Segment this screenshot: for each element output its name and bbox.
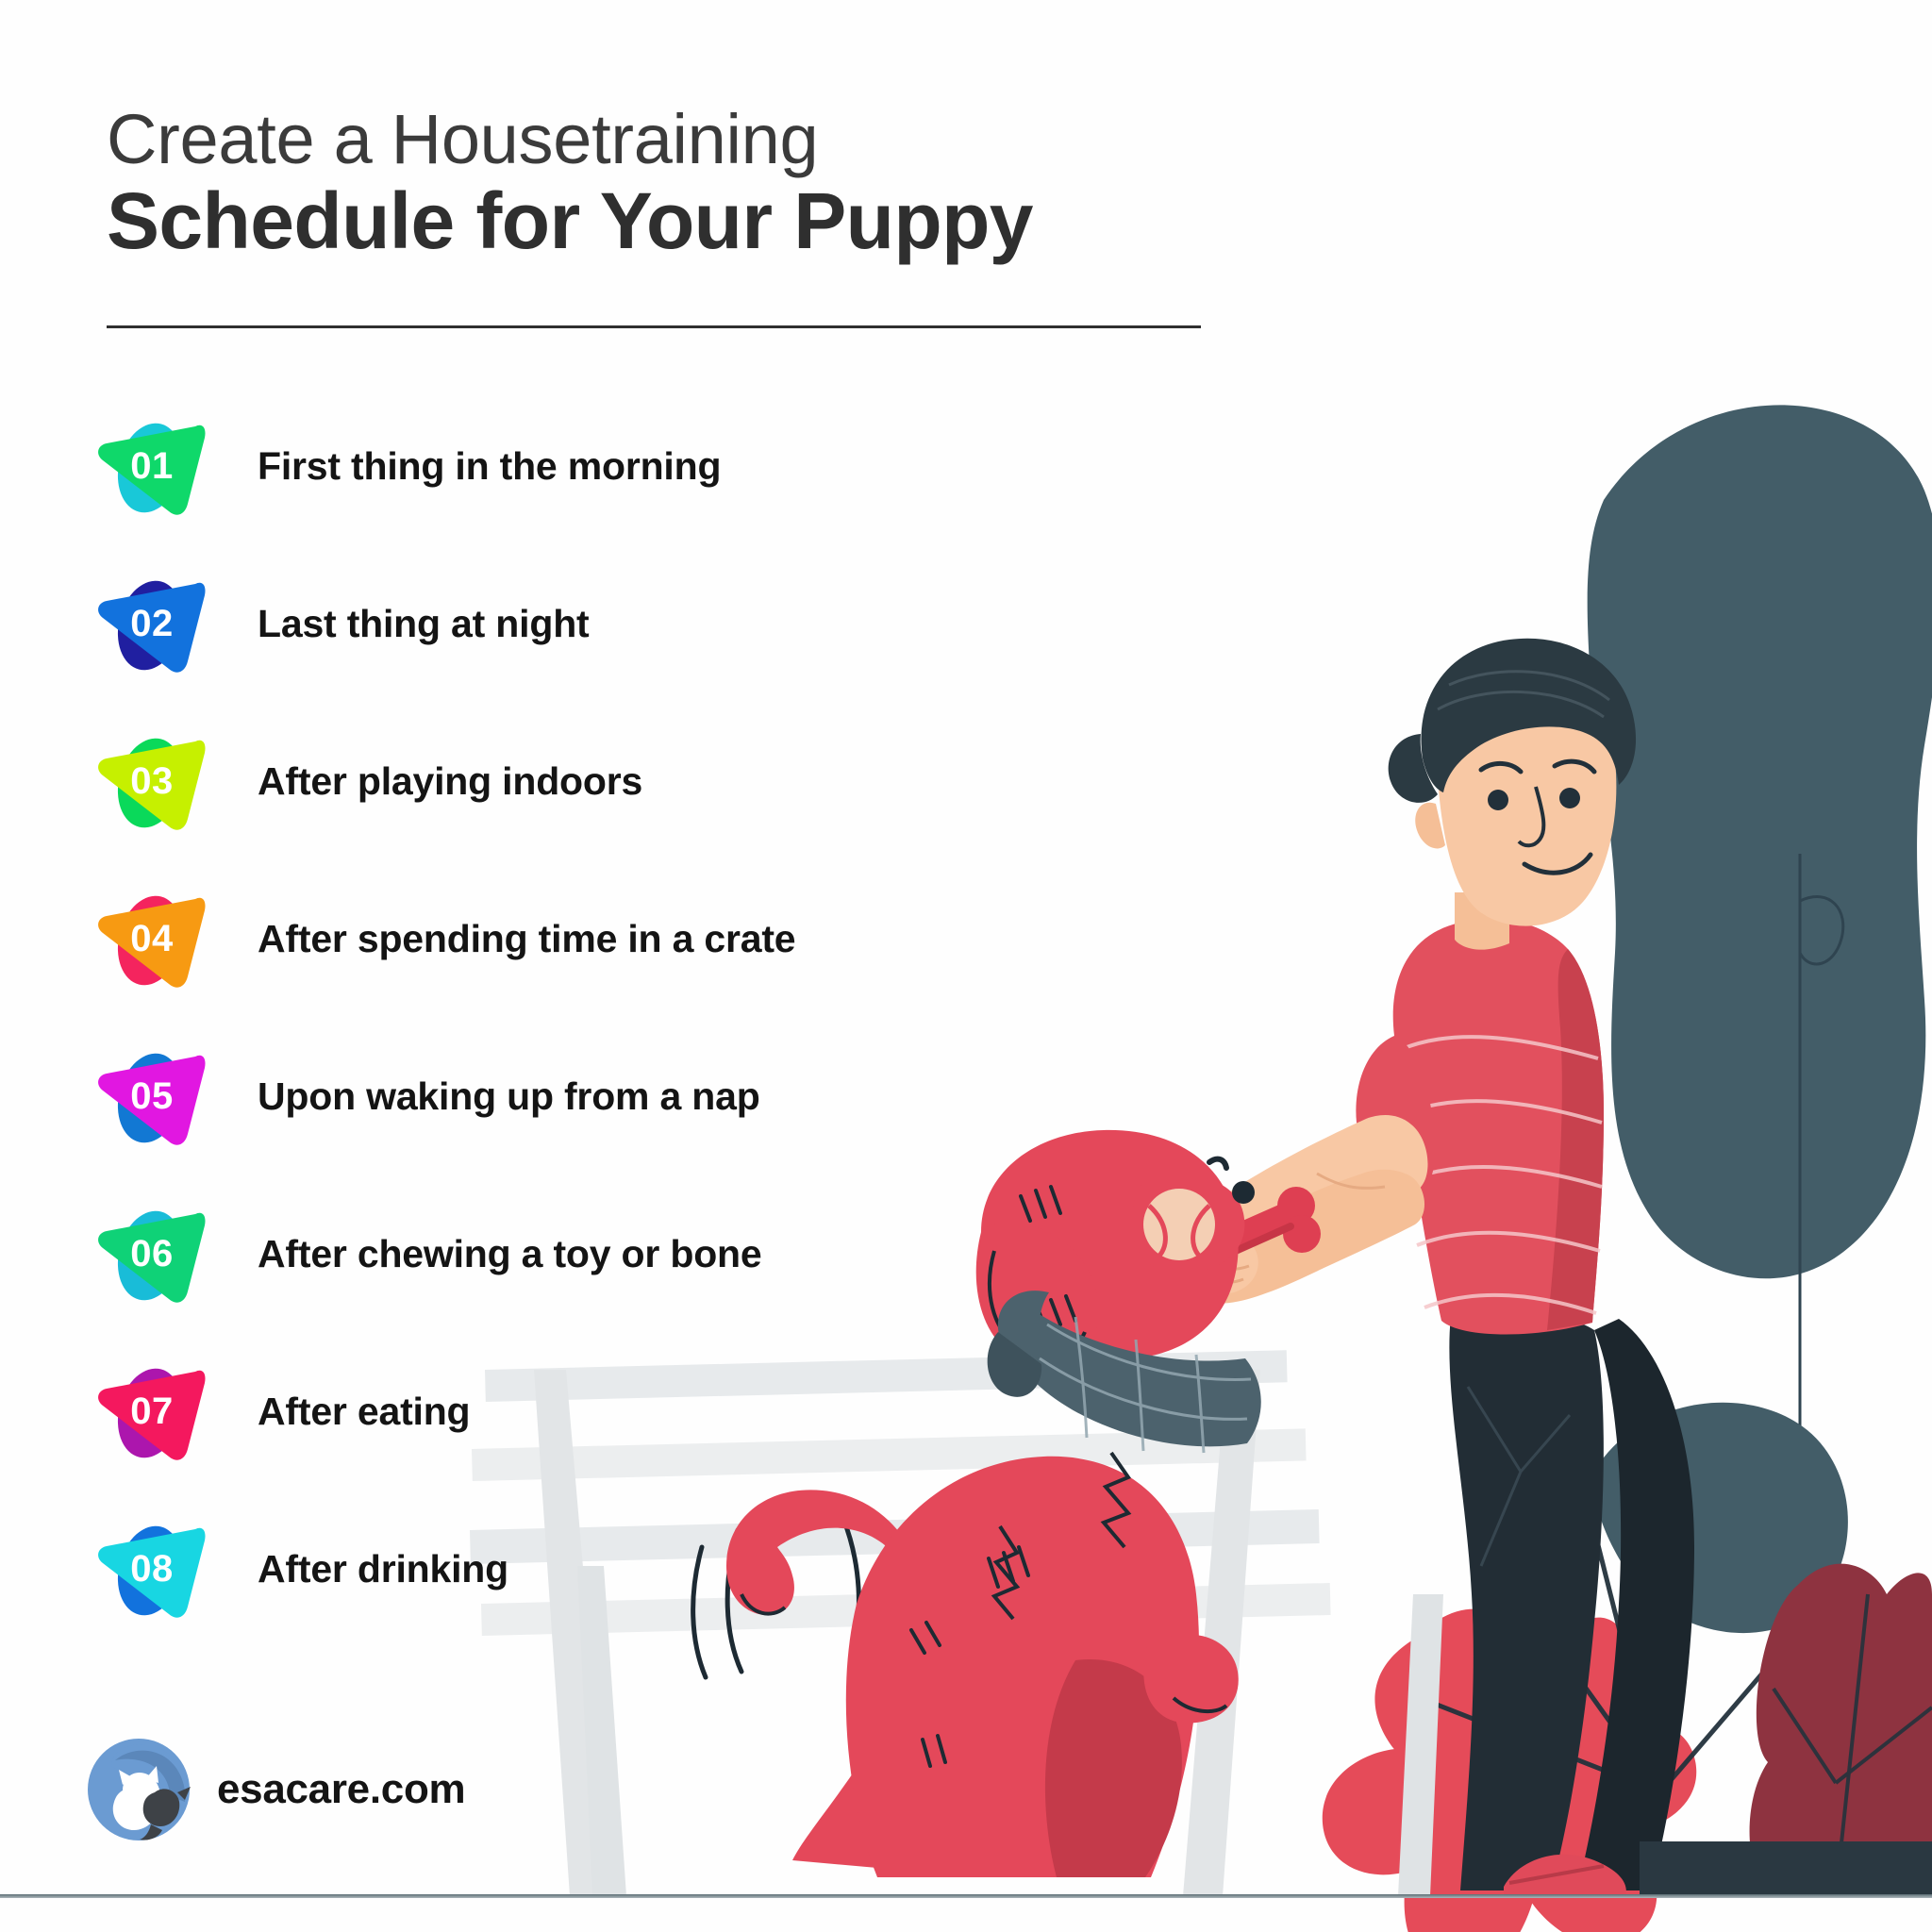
title-line-1: Create a Housetraining [107, 104, 1220, 175]
step-number: 01 [90, 406, 210, 526]
list-item: 08After drinking [90, 1508, 1222, 1666]
footer-site-url: esacare.com [217, 1766, 465, 1813]
list-item: 03After playing indoors [90, 721, 1222, 878]
list-item-label: After chewing a toy or bone [258, 1193, 762, 1314]
infographic-poster: Create a Housetraining Schedule for Your… [0, 0, 1932, 1932]
list-item-label: After eating [258, 1351, 470, 1472]
list-item: 01First thing in the morning [90, 406, 1222, 563]
schedule-list: 01First thing in the morning02Last thing… [90, 406, 1222, 1666]
list-item-label: After spending time in a crate [258, 878, 795, 999]
step-number: 03 [90, 721, 210, 841]
step-number: 05 [90, 1036, 210, 1157]
step-number: 07 [90, 1351, 210, 1472]
list-item: 05Upon waking up from a nap [90, 1036, 1222, 1193]
title-divider [107, 325, 1201, 328]
footer: esacare.com [87, 1738, 465, 1841]
step-badge-08: 08 [90, 1508, 210, 1629]
list-item: 07After eating [90, 1351, 1222, 1508]
step-number: 04 [90, 878, 210, 999]
step-badge-03: 03 [90, 721, 210, 841]
list-item-label: Last thing at night [258, 563, 590, 684]
list-item: 02Last thing at night [90, 563, 1222, 721]
step-number: 06 [90, 1193, 210, 1314]
step-badge-04: 04 [90, 878, 210, 999]
step-badge-02: 02 [90, 563, 210, 684]
step-badge-01: 01 [90, 406, 210, 526]
step-badge-07: 07 [90, 1351, 210, 1472]
list-item: 04After spending time in a crate [90, 878, 1222, 1036]
logo-placeholder [87, 1738, 191, 1841]
list-item-label: First thing in the morning [258, 406, 721, 526]
bottom-divider [0, 1894, 1932, 1898]
title-line-2: Schedule for Your Puppy [107, 179, 1220, 262]
step-number: 08 [90, 1508, 210, 1629]
list-item-label: Upon waking up from a nap [258, 1036, 760, 1157]
step-badge-06: 06 [90, 1193, 210, 1314]
list-item: 06After chewing a toy or bone [90, 1193, 1222, 1351]
page-title: Create a Housetraining Schedule for Your… [107, 104, 1220, 262]
list-item-label: After drinking [258, 1508, 508, 1629]
step-number: 02 [90, 563, 210, 684]
step-badge-05: 05 [90, 1036, 210, 1157]
list-item-label: After playing indoors [258, 721, 642, 841]
